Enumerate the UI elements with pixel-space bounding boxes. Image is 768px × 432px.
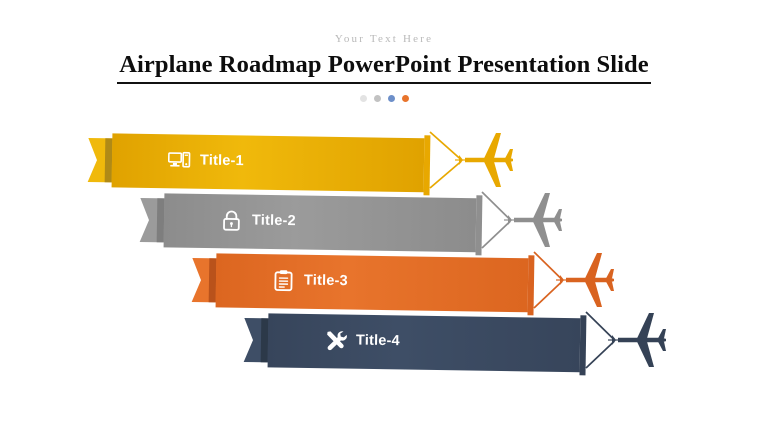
airplane-trail-group — [586, 308, 724, 372]
roadmap-row[interactable]: Title-1 — [88, 128, 550, 192]
airplane-icon — [556, 253, 614, 307]
airplane-icon — [504, 193, 562, 247]
airplane-icon — [608, 313, 666, 367]
airplane-trail-group — [430, 128, 571, 192]
roadmap-row[interactable]: Title-4 — [244, 308, 703, 372]
ribbon-banner — [243, 308, 626, 378]
roadmap-row[interactable]: Title-3 — [192, 248, 651, 312]
roadmap-diagram: Title-1Title-2Title-3Title-4 — [0, 0, 768, 432]
airplane-trail-group — [482, 188, 620, 252]
airplane-icon — [455, 133, 513, 187]
roadmap-row[interactable]: Title-2 — [140, 188, 599, 252]
airplane-trail-group — [534, 248, 672, 312]
